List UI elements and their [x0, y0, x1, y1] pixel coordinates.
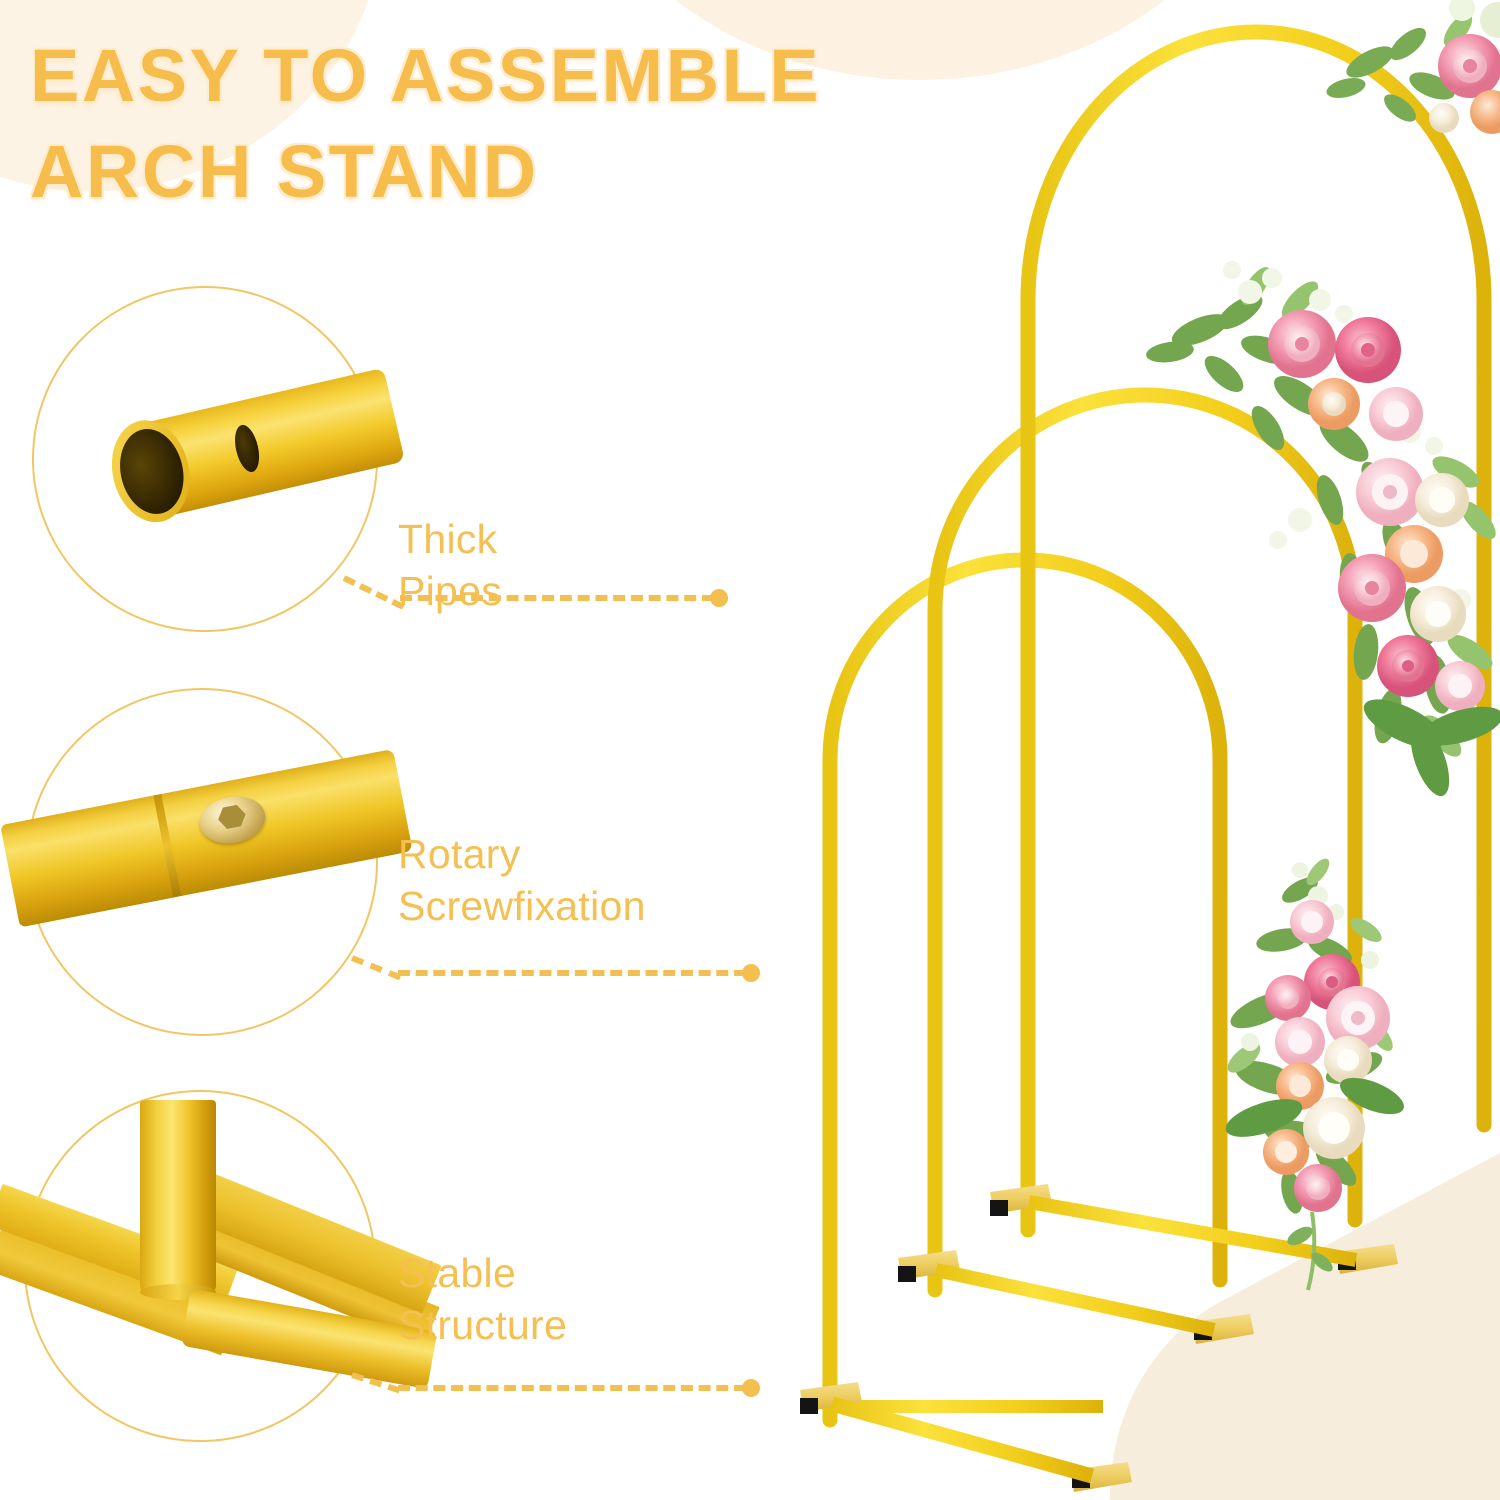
- feature-2-connector-line: [398, 970, 760, 976]
- feature-3-dot-marker: [742, 1379, 760, 1397]
- arch-middle: [898, 395, 1355, 1344]
- arch-back-left: [800, 560, 1220, 1492]
- feature-1-dot-marker: [710, 589, 728, 607]
- feature-2-label: Rotary Screwfixation: [398, 828, 646, 933]
- product-feature-infographic: EASY TO ASSEMBLE ARCH STAND Thick Pipes: [0, 0, 1500, 1500]
- arch-stand-svg: [740, 0, 1500, 1500]
- feature-3-label: Stable Structure: [398, 1247, 567, 1352]
- arch-front-tall: [990, 32, 1484, 1274]
- feature-1-label: Thick Pipes: [398, 513, 502, 618]
- feature-3-dash-segment: [398, 1385, 746, 1391]
- feature-3-connector-line: [398, 1385, 760, 1391]
- pipe-screw-joint-icon: [0, 680, 420, 1040]
- pipe-end-icon: [0, 0, 420, 700]
- feature-2-dot-marker: [742, 964, 760, 982]
- feature-2-dash-segment: [398, 970, 746, 976]
- arch-stand-illustration: [740, 0, 1500, 1500]
- base-tee-junction-icon: [0, 1040, 430, 1470]
